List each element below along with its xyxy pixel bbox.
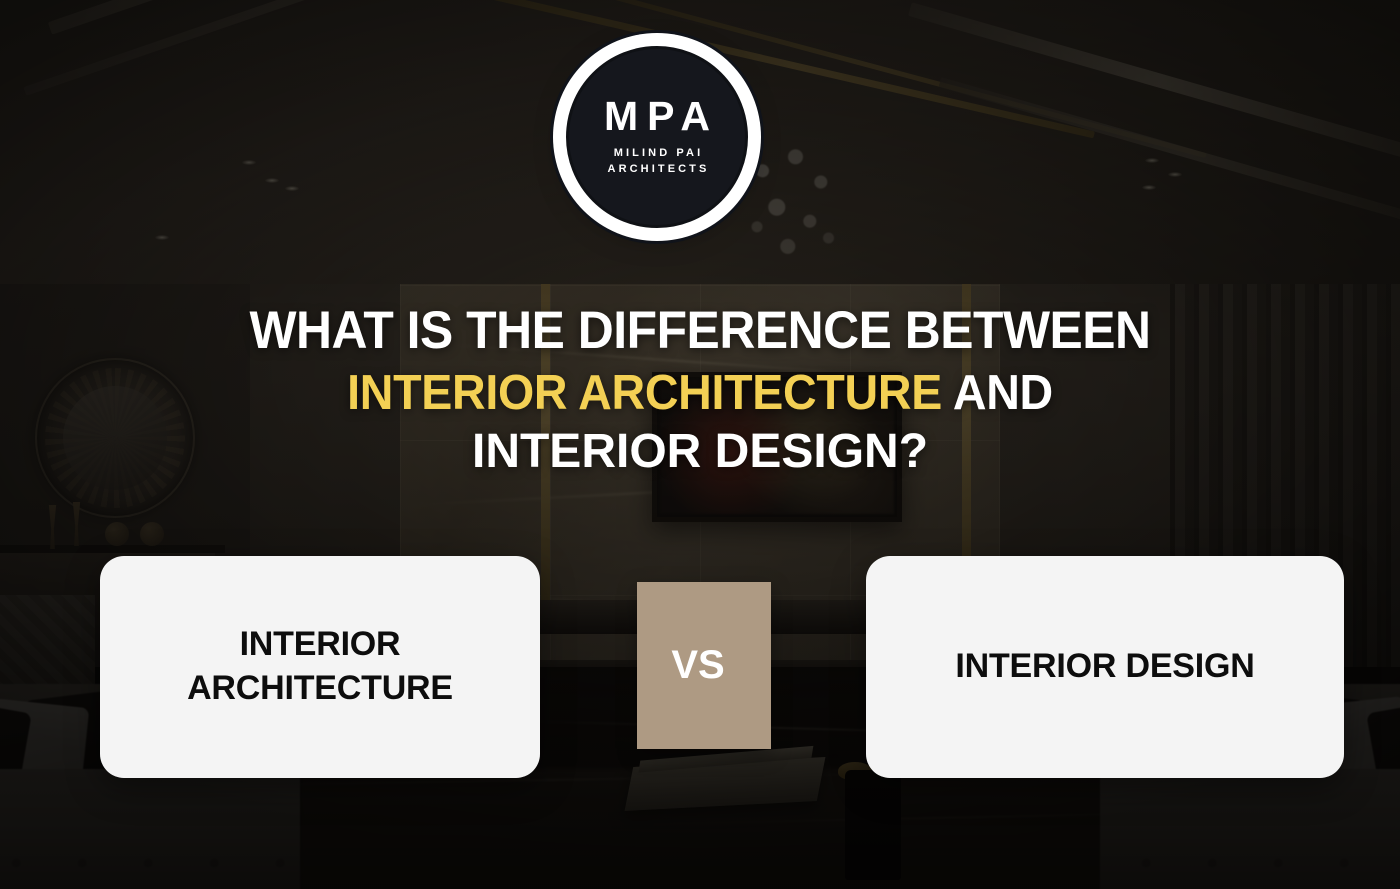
card-left-label-line1: INTERIOR [240,625,401,663]
poster-content: MPA MILIND PAI ARCHITECTS WHAT IS THE DI… [0,0,1400,889]
headline-line-3: INTERIOR DESIGN? [0,427,1400,476]
poster-canvas: MPA MILIND PAI ARCHITECTS WHAT IS THE DI… [0,0,1400,889]
comparison-card-left-label: INTERIORARCHITECTURE [165,623,475,710]
headline-line-1: WHAT IS THE DIFFERENCE BETWEEN [42,304,1358,359]
headline-line-2: INTERIOR ARCHITECTURE AND [35,368,1365,418]
comparison-card-interior-design[interactable]: INTERIOR DESIGN [866,556,1344,778]
logo-subtitle-line1: MILIND PAI [611,146,703,162]
versus-badge: VS [637,582,771,749]
headline-line-2-rest: AND [942,366,1053,420]
headline: WHAT IS THE DIFFERENCE BETWEEN INTERIOR … [0,304,1400,476]
versus-label: VS [671,643,724,688]
mpa-circular-logo: MPA MILIND PAI ARCHITECTS [566,46,748,228]
logo-mark-text: MPA [595,96,719,137]
comparison-card-interior-architecture[interactable]: INTERIORARCHITECTURE [100,556,540,778]
card-left-label-line2: ARCHITECTURE [187,669,453,707]
headline-highlight-text: INTERIOR ARCHITECTURE [347,366,942,420]
logo-subtitle-line2: ARCHITECTS [605,162,710,178]
comparison-card-right-label: INTERIOR DESIGN [933,645,1276,689]
